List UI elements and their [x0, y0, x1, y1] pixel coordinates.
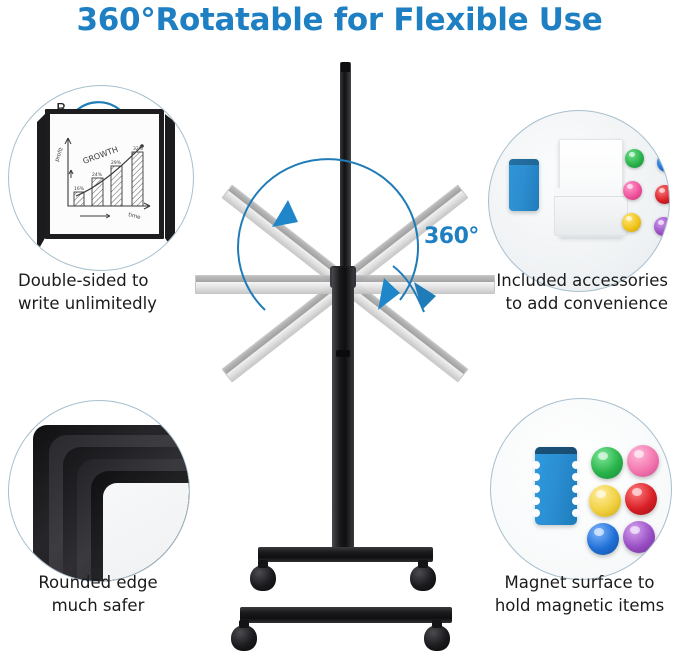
magnet-green [625, 149, 644, 168]
eraser-wave [572, 461, 580, 469]
eraser-cap [535, 447, 577, 454]
rotation-degree-label: 360° [424, 224, 479, 249]
whiteboard-eraser [509, 159, 539, 211]
eraser-wave [572, 509, 580, 517]
caster-wheel-2 [410, 565, 436, 591]
callout-caption-accessories: Included accessories to add convenience [468, 270, 668, 316]
caster-wheel-3 [231, 625, 257, 651]
eraser-wave [572, 473, 580, 481]
eraser-wave [532, 461, 540, 469]
whiteboard-back-face [33, 106, 177, 256]
magnet-purple [654, 217, 670, 236]
magnet-yellow [589, 485, 621, 517]
eraser-wave [572, 485, 580, 493]
magnet-pink [623, 181, 642, 200]
eraser-wave [532, 497, 540, 505]
callout-circle-rounded-edge [8, 400, 190, 582]
eraser-wave [572, 497, 580, 505]
magnet-green [591, 447, 623, 479]
magnet-yellow [622, 213, 641, 232]
callout-caption-magnet-surface: Magnet surface to hold magnetic items [480, 572, 679, 618]
magnet-blue [657, 153, 670, 172]
magnet-red [655, 185, 670, 204]
pen-tray-lip [554, 188, 626, 197]
callout-caption-rounded-edge: Rounded edge much safer [0, 572, 196, 618]
base-bar-lower [240, 607, 452, 623]
callout-caption-double-sided: Double-sided to write unlimitedly [18, 270, 208, 316]
magnet-blue [587, 523, 619, 555]
callout-circle-accessories [488, 110, 670, 292]
magnet-pink [627, 445, 659, 477]
eraser-wave [532, 509, 540, 517]
eraser-handle [488, 168, 493, 180]
magnet-purple [623, 521, 655, 553]
eraser-wave [532, 473, 540, 481]
infographic-page: 360°Rotatable for Flexible Use [0, 0, 679, 661]
eraser-wave [532, 485, 540, 493]
mast-cap [341, 62, 350, 72]
rotation-arc [210, 150, 500, 400]
magnet-red [625, 483, 657, 515]
whiteboard-surface-corner [103, 483, 190, 582]
pen-tray-holder [559, 139, 623, 237]
callout-circle-magnet-surface [490, 398, 672, 580]
caster-wheel-1 [250, 565, 276, 591]
caster-wheel-4 [424, 625, 450, 651]
callout-circle-double-sided: B A [8, 85, 194, 271]
whiteboard-eraser [535, 447, 577, 525]
base-bar-upper [258, 547, 433, 562]
